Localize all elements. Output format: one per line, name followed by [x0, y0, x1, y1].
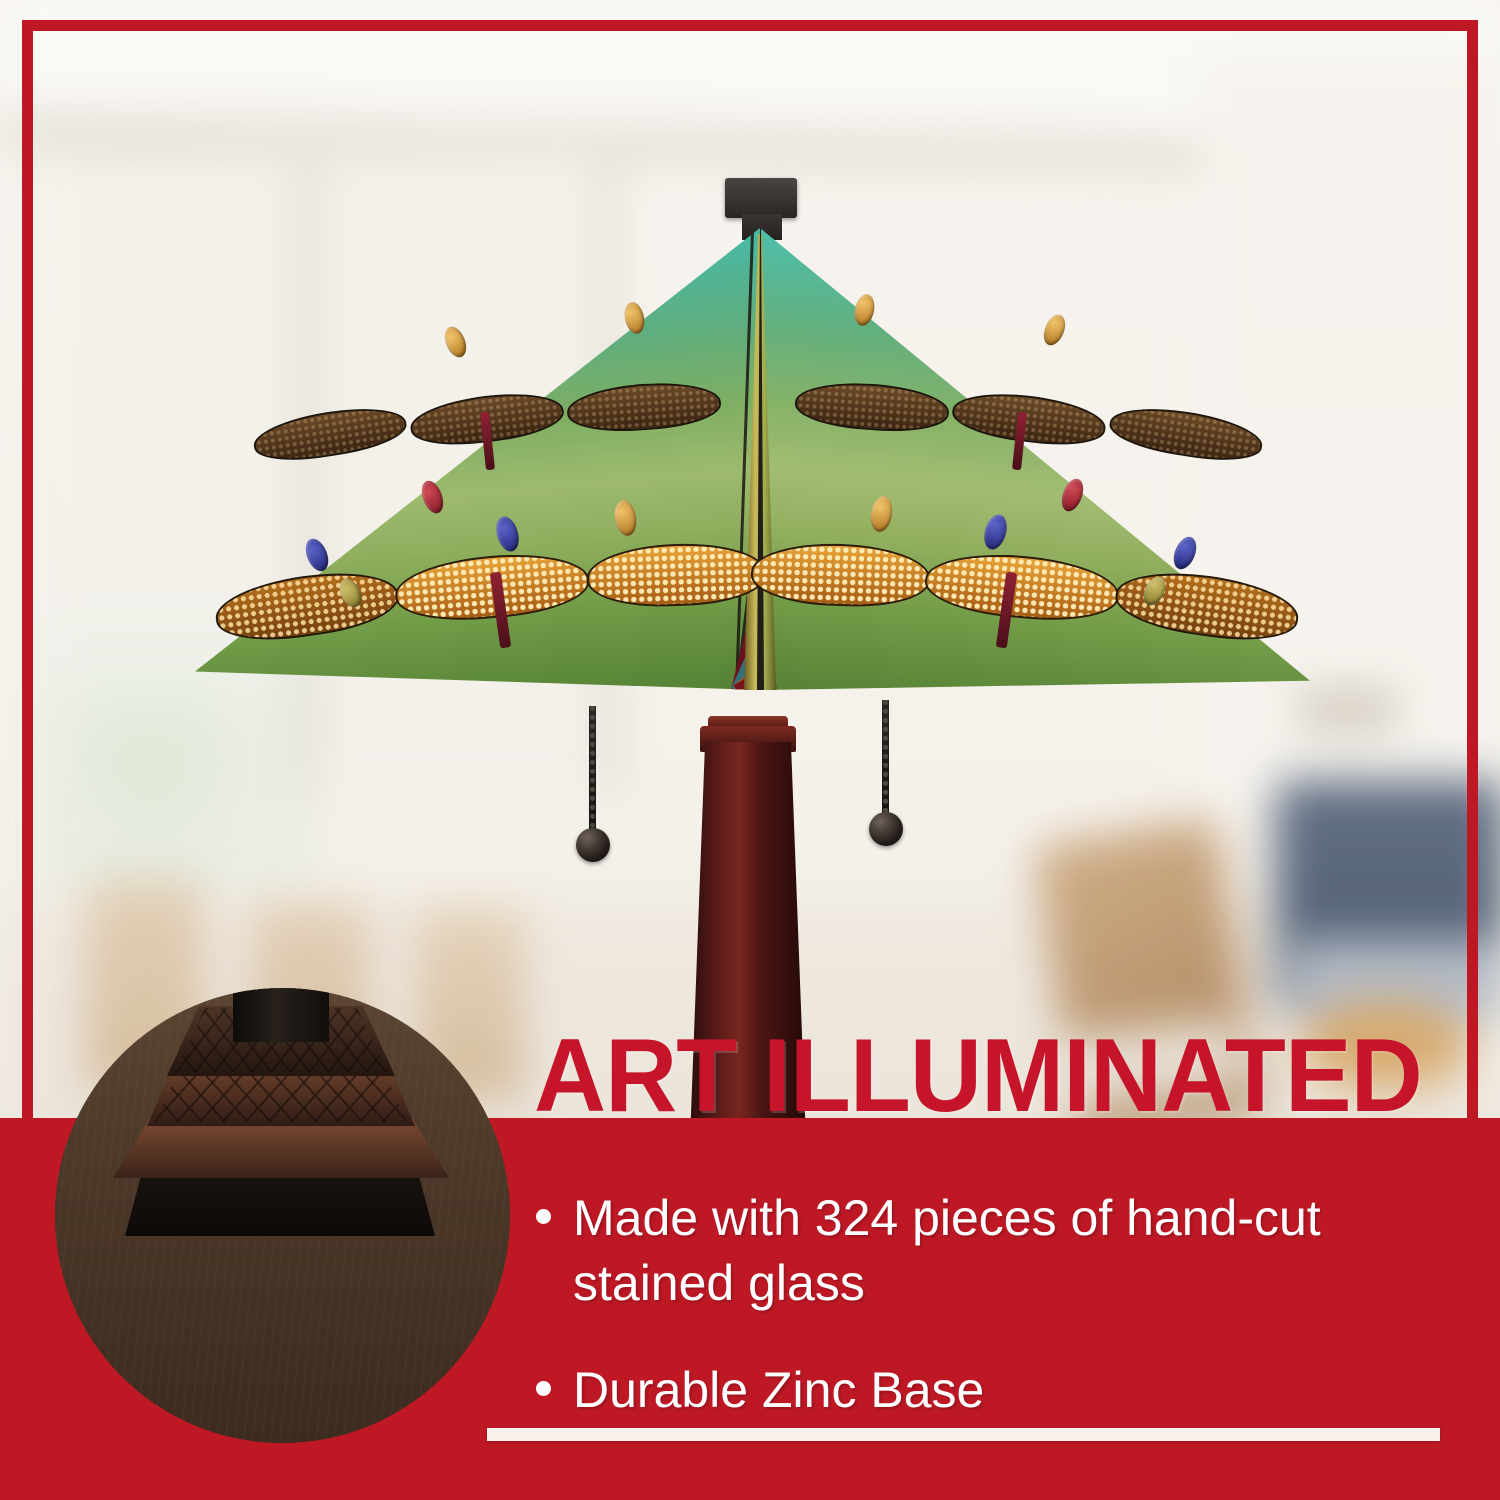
lamp-finial-cap: [725, 178, 797, 218]
page-headline: ART ILLUMINATED: [534, 1024, 1422, 1128]
bullet-text: Made with 324 pieces of hand-cut stained…: [573, 1186, 1466, 1316]
pull-chain-left[interactable]: [589, 706, 596, 834]
dragonfly-band-upper: [195, 378, 1310, 464]
list-item: Made with 324 pieces of hand-cut stained…: [536, 1186, 1466, 1316]
list-item: Durable Zinc Base: [536, 1358, 1466, 1423]
stained-glass-shade: [195, 228, 1310, 690]
zinc-base-detail-circle: [55, 988, 510, 1443]
bullet-text: Durable Zinc Base: [573, 1358, 984, 1423]
white-underline-bar: [487, 1428, 1440, 1441]
base-stem: [233, 988, 329, 1042]
pull-chain-left-ball[interactable]: [576, 828, 610, 862]
base-bevel: [113, 1118, 449, 1178]
bullet-dot-icon: [536, 1209, 551, 1224]
feature-bullet-list: Made with 324 pieces of hand-cut stained…: [536, 1186, 1466, 1465]
base-lattice-relief: [155, 1072, 407, 1122]
marketing-image: ART ILLUMINATED Made with 324 pieces of …: [0, 0, 1500, 1500]
pull-chain-right[interactable]: [882, 700, 889, 818]
pull-chain-right-ball[interactable]: [869, 812, 903, 846]
bullet-dot-icon: [536, 1381, 551, 1396]
